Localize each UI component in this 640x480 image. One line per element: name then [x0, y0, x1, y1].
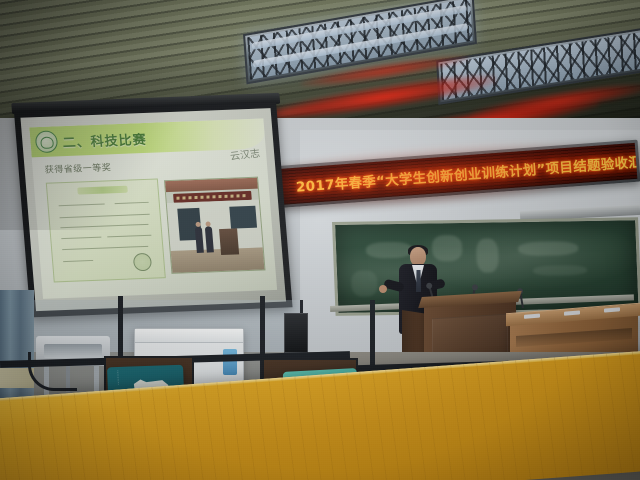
wall-speaker — [284, 313, 308, 353]
freezer-label — [223, 349, 237, 375]
pillow-dog-text: ········· — [115, 370, 122, 385]
photo-ground — [171, 247, 265, 272]
presenter-tie — [416, 270, 421, 292]
freezer-lid — [135, 329, 243, 343]
certificate-seal-icon — [133, 253, 152, 272]
desk-shelf — [516, 328, 632, 347]
presenter-left-hand — [379, 285, 387, 293]
window-curtain — [0, 290, 34, 410]
desk-hinge — [524, 314, 540, 319]
corner-shadow — [0, 0, 240, 230]
desk-hinge — [564, 310, 580, 315]
photo-scene: 2017年春季“大学生创新创业训练计划”项目结题验收汇报会 二、科技比赛 获得省… — [0, 0, 640, 480]
desk-hinge — [604, 307, 620, 312]
photo-equipment — [219, 228, 239, 255]
